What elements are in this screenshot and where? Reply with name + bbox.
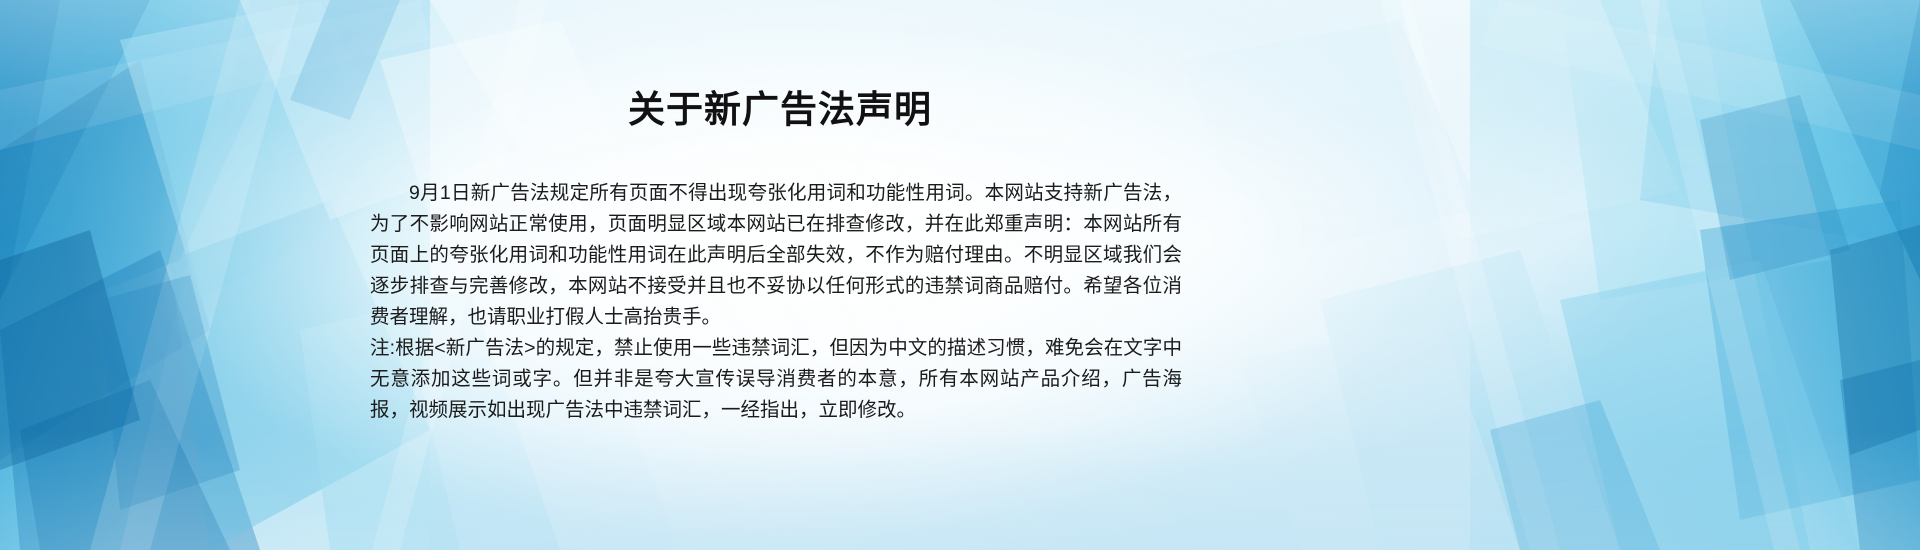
paragraph-main-statement: 9月1日新广告法规定所有页面不得出现夸张化用词和功能性用词。本网站支持新广告法，… — [370, 178, 1182, 333]
statement-content: 关于新广告法声明 9月1日新广告法规定所有页面不得出现夸张化用词和功能性用词。本… — [0, 0, 1920, 550]
paragraph-note-statement: 注:根据<新广告法>的规定，禁止使用一些违禁词汇，但因为中文的描述习惯，难免会在… — [370, 333, 1182, 426]
statement-body: 9月1日新广告法规定所有页面不得出现夸张化用词和功能性用词。本网站支持新广告法，… — [370, 178, 1182, 426]
page-title: 关于新广告法声明 — [370, 88, 1190, 132]
advertising-law-statement-banner: 关于新广告法声明 9月1日新广告法规定所有页面不得出现夸张化用词和功能性用词。本… — [0, 0, 1920, 550]
